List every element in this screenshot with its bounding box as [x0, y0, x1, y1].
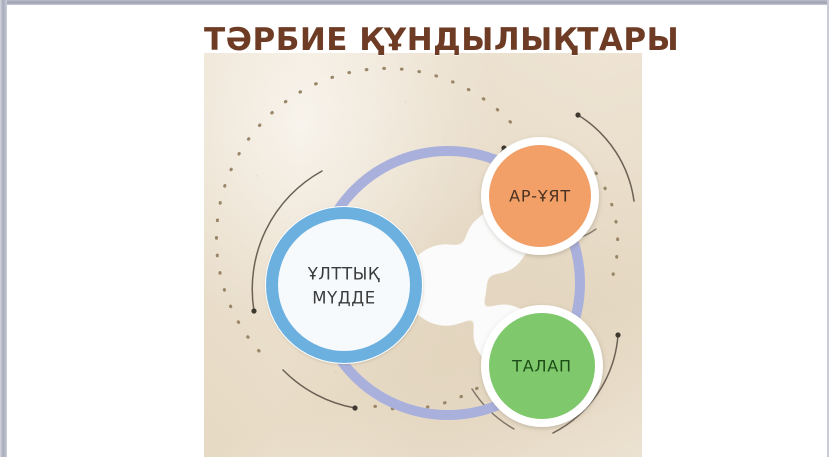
- slide-canvas: ҰЛТТЫҚ МҮДДЕ АР-ҰЯТ ТАЛАП: [204, 53, 642, 457]
- node-ar-uyat[interactable]: АР-ҰЯТ: [481, 137, 599, 255]
- values-diagram: ҰЛТТЫҚ МҮДДЕ АР-ҰЯТ ТАЛАП: [204, 53, 642, 457]
- viewer-left-scrollbar[interactable]: [0, 0, 7, 457]
- node-talap[interactable]: ТАЛАП: [481, 305, 603, 427]
- node-ar-uyat-label: АР-ҰЯТ: [509, 187, 571, 206]
- document-viewer: ҰЛТТЫҚ МҮДДЕ АР-ҰЯТ ТАЛАП ТӘРБИЕ ҚҰНДЫ: [0, 0, 829, 457]
- page-title: ТӘРБИЕ ҚҰНДЫЛЫҚТАРЫ: [204, 22, 674, 58]
- viewer-top-bar: [0, 0, 829, 5]
- node-ulttyq-mudde-label-line2: МҮДДЕ: [312, 289, 376, 308]
- node-ulttyq-mudde[interactable]: ҰЛТТЫҚ МҮДДЕ: [265, 206, 423, 364]
- node-ulttyq-mudde-circle: [272, 213, 416, 357]
- page-surface: ҰЛТТЫҚ МҮДДЕ АР-ҰЯТ ТАЛАП ТӘРБИЕ ҚҰНДЫ: [7, 5, 827, 457]
- node-ulttyq-mudde-label-line1: ҰЛТТЫҚ: [307, 265, 381, 284]
- node-talap-label: ТАЛАП: [511, 357, 572, 376]
